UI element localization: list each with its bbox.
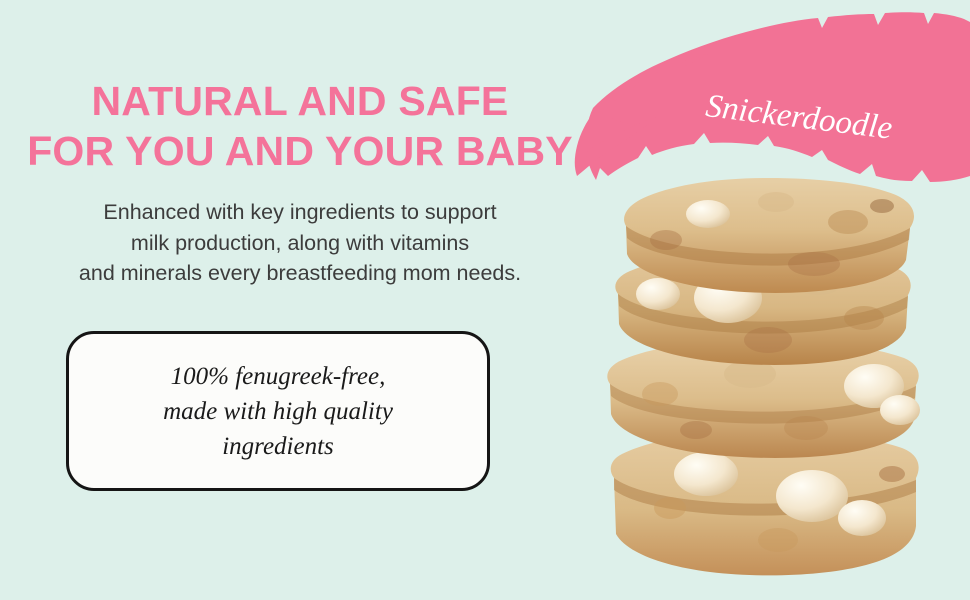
flavor-badge-label: Snickerdoodle <box>704 86 937 154</box>
callout-box: 100% fenugreek-free, made with high qual… <box>66 331 490 491</box>
copy-block: NATURAL AND SAFE FOR YOU AND YOUR BABY E… <box>0 0 600 600</box>
subheadline-line-2: milk production, along with vitamins <box>0 228 600 259</box>
cookie-stack-photo <box>600 178 930 600</box>
cookie-stack-illustration <box>600 178 930 600</box>
subheadline-paragraph: Enhanced with key ingredients to support… <box>0 197 600 289</box>
page-title: NATURAL AND SAFE FOR YOU AND YOUR BABY <box>0 76 600 176</box>
callout-line-3: ingredients <box>163 429 393 464</box>
promo-banner: NATURAL AND SAFE FOR YOU AND YOUR BABY E… <box>0 0 970 600</box>
callout-text: 100% fenugreek-free, made with high qual… <box>147 359 409 464</box>
cookie-top <box>624 178 914 293</box>
subheadline-line-3: and minerals every breastfeeding mom nee… <box>0 258 600 289</box>
subheadline-line-1: Enhanced with key ingredients to support <box>0 197 600 228</box>
headline-line-1: NATURAL AND SAFE <box>0 76 600 126</box>
headline-line-2: FOR YOU AND YOUR BABY <box>0 126 600 176</box>
callout-line-1: 100% fenugreek-free, <box>163 359 393 394</box>
callout-line-2: made with high quality <box>163 394 393 429</box>
